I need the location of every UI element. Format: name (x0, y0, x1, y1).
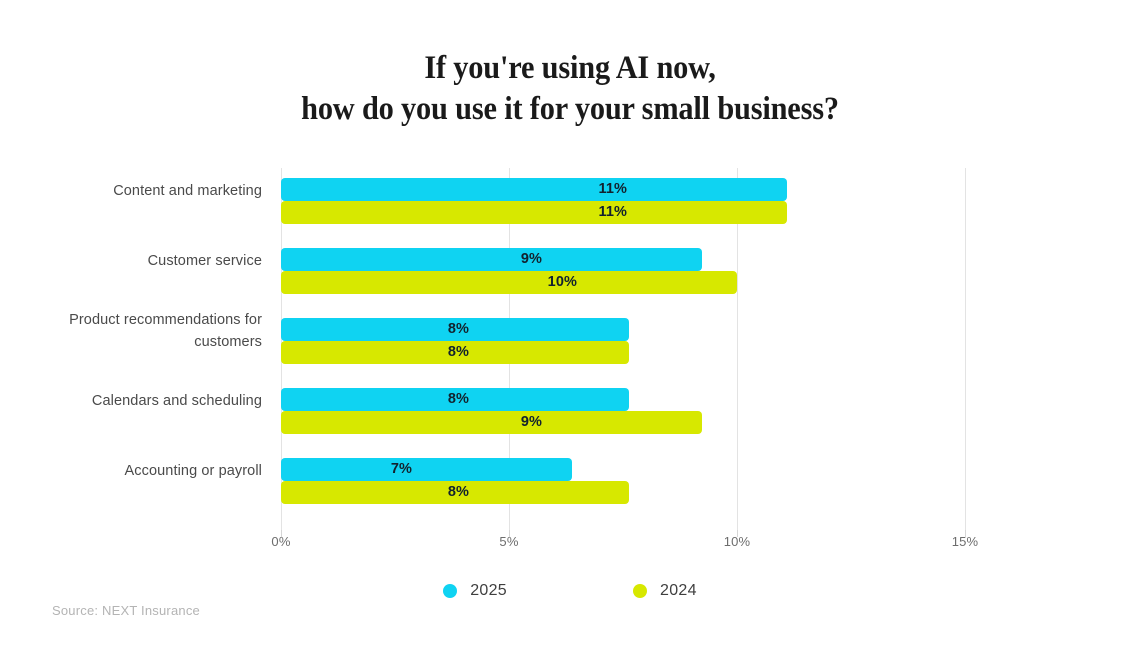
y-axis-label-line: Customer service (148, 253, 262, 269)
bar-label-2025-calendars-and-scheduling: 8% (281, 388, 469, 411)
y-axis-label-line: customers (194, 334, 262, 350)
y-axis-category-labels: Content and marketing Customer service P… (0, 168, 262, 530)
legend-item-2025[interactable]: 2025 (443, 582, 507, 600)
y-axis-label-line: Content and marketing (113, 183, 262, 199)
y-axis-label-product-recommendations: Product recommendations for customers (0, 309, 262, 353)
bar-label-2025-accounting-or-payroll: 7% (281, 458, 412, 481)
bar-label-2024-customer-service: 10% (281, 271, 577, 294)
title-line-1: If you're using AI now, (46, 48, 1095, 89)
bar-label-2024-content-and-marketing: 11% (281, 201, 627, 224)
bar-label-2025-customer-service: 9% (281, 248, 542, 271)
bar-label-2024-product-recommendations: 8% (281, 341, 469, 364)
page-title: If you're using AI now, how do you use i… (0, 48, 1140, 130)
y-axis-label-line: Product recommendations for (69, 312, 262, 328)
chart-legend: 2025 2024 (0, 582, 1140, 600)
bar-label-2024-calendars-and-scheduling: 9% (281, 411, 542, 434)
y-axis-label-line: Calendars and scheduling (92, 393, 262, 409)
y-axis-label-line: Accounting or payroll (124, 463, 262, 479)
x-tick-label-0: 0% (271, 534, 290, 549)
circle-icon (633, 584, 647, 598)
y-axis-label-accounting-or-payroll: Accounting or payroll (0, 460, 262, 482)
x-tick-label-15: 15% (952, 534, 979, 549)
bar-label-2025-product-recommendations: 8% (281, 318, 469, 341)
x-tick-label-10: 10% (724, 534, 751, 549)
y-axis-label-content-and-marketing: Content and marketing (0, 180, 262, 202)
y-axis-label-calendars-and-scheduling: Calendars and scheduling (0, 390, 262, 412)
circle-icon (443, 584, 457, 598)
bar-label-2025-content-and-marketing: 11% (281, 178, 627, 201)
x-axis-tick-labels: 0% 5% 10% 15% (281, 534, 965, 554)
source-note: Source: NEXT Insurance (52, 603, 200, 618)
bar-label-2024-accounting-or-payroll: 8% (281, 481, 469, 504)
gridline-15-percent (965, 168, 966, 530)
bars-layer: 11% 11% 9% 10% 8% 8% 8% 9% 7% 8% (281, 168, 965, 530)
legend-label-2024: 2024 (660, 582, 697, 600)
y-axis-label-customer-service: Customer service (0, 250, 262, 272)
x-tick-label-5: 5% (499, 534, 518, 549)
title-line-2: how do you use it for your small busines… (46, 89, 1095, 130)
legend-item-2024[interactable]: 2024 (633, 582, 697, 600)
legend-label-2025: 2025 (470, 582, 507, 600)
plot-area: 11% 11% 9% 10% 8% 8% 8% 9% 7% 8% (281, 168, 965, 530)
